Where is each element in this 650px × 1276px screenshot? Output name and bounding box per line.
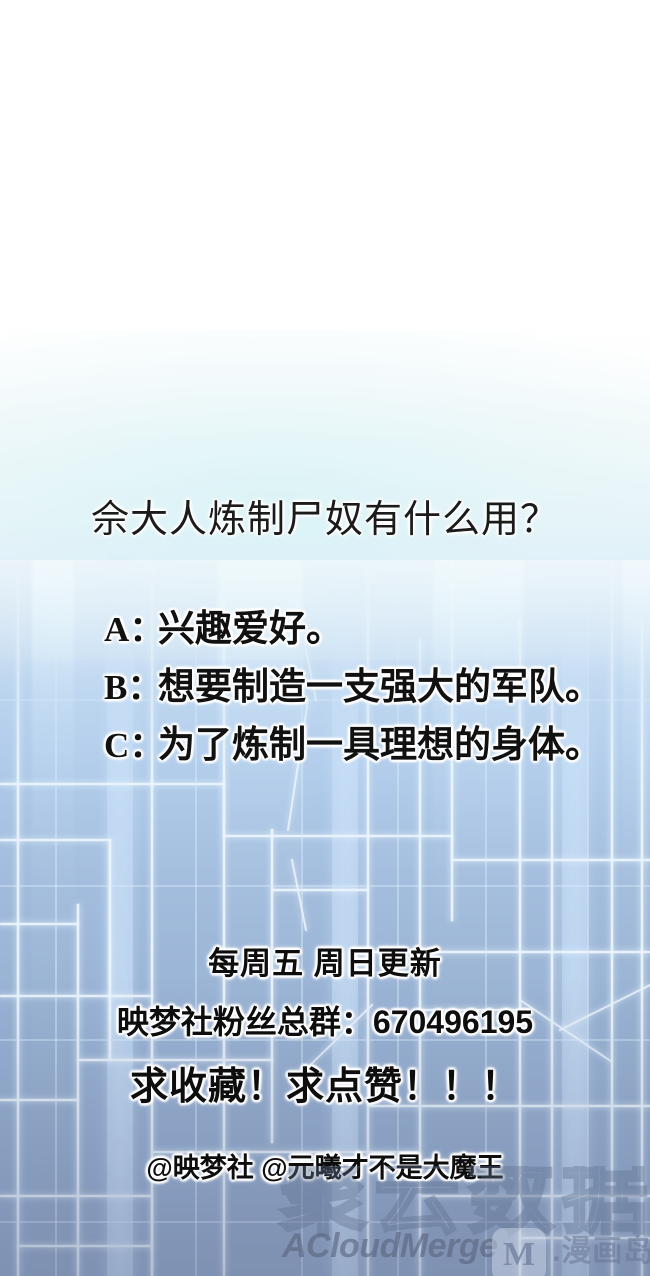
content-layer: 佘大人炼制尸奴有什么用？ A： 兴趣爱好。 B： 想要制造一支强大的军队。 C：… (0, 0, 650, 1276)
quiz-option-a[interactable]: A： 兴趣爱好。 (104, 598, 650, 656)
watermark-brand-text: ACloudMerge (282, 1227, 498, 1266)
quiz-options-list: A： 兴趣爱好。 B： 想要制造一支强大的军队。 C： 为了炼制一具理想的身体。 (0, 598, 650, 772)
quiz-option-b-key: B： (104, 659, 158, 710)
quiz-option-c-key: C： (104, 717, 158, 768)
comic-quiz-page: 佘大人炼制尸奴有什么用？ A： 兴趣爱好。 B： 想要制造一支强大的军队。 C：… (0, 0, 650, 1276)
watermark-layer: 聚云数据 ACloudMerge M .漫画岛 (0, 1166, 650, 1276)
watermark-logo-letter: M (503, 1236, 535, 1274)
footer-block: 每周五 周日更新 映梦社粉丝总群：670496195 求收藏！求点赞！！！ @映… (0, 938, 650, 1185)
quiz-question: 佘大人炼制尸奴有什么用？ (0, 488, 650, 543)
update-schedule: 每周五 周日更新 (0, 938, 650, 983)
quiz-option-a-key: A： (104, 601, 158, 652)
quiz-option-b-text: 想要制造一支强大的军队。 (158, 656, 602, 710)
quiz-option-a-text: 兴趣爱好。 (158, 598, 343, 652)
promo-call-to-action: 求收藏！求点赞！！！ (0, 1055, 650, 1110)
fan-group-number: 映梦社粉丝总群：670496195 (0, 997, 650, 1043)
watermark-site-name: .漫画岛 (552, 1226, 650, 1270)
quiz-option-c-text: 为了炼制一具理想的身体。 (158, 714, 602, 768)
watermark-logo-icon: M (492, 1228, 546, 1276)
quiz-option-c[interactable]: C： 为了炼制一具理想的身体。 (104, 714, 650, 772)
quiz-option-b[interactable]: B： 想要制造一支强大的军队。 (104, 656, 650, 714)
